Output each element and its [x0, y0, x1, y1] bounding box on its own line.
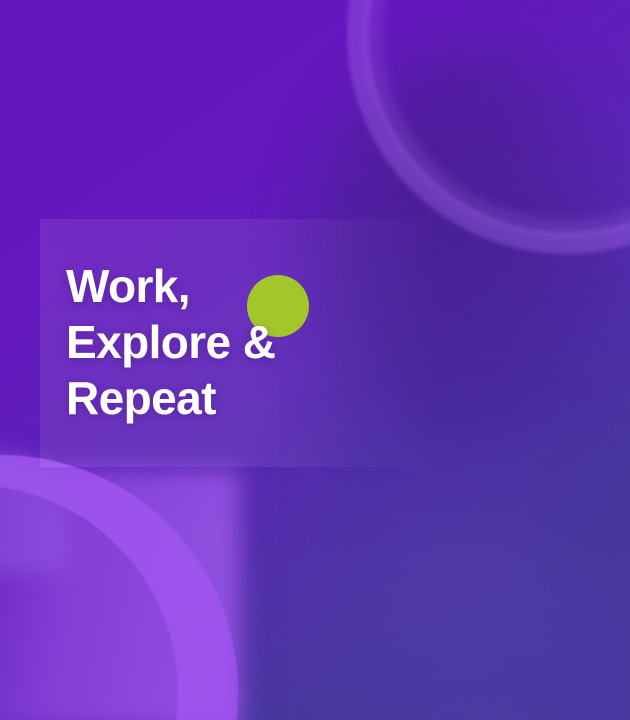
- headline-line-3: Repeat: [66, 370, 426, 426]
- hero-banner: Work, Explore & Repeat: [0, 0, 630, 720]
- headline-line-2: Explore &: [66, 314, 426, 370]
- page-title: Work, Explore & Repeat: [66, 258, 426, 426]
- headline-line-1: Work,: [66, 258, 426, 314]
